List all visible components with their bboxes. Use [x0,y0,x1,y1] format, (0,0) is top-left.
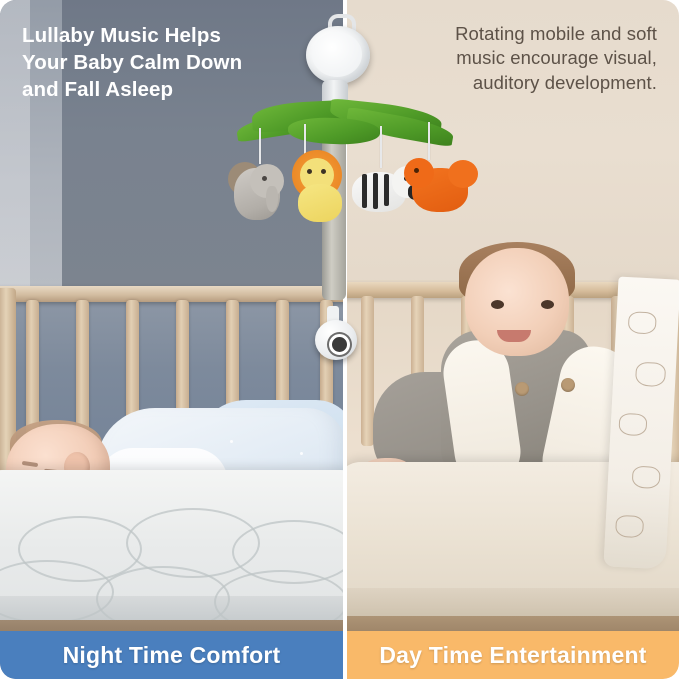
zebra-stripe [384,174,389,206]
banner-night-label: Night Time Comfort [63,642,281,669]
elephant-plush[interactable] [226,158,294,224]
lion-body [298,184,342,222]
lion-eye [307,169,312,174]
day-scene [345,0,679,679]
zebra-stripe [373,173,378,209]
toy-string [380,126,382,168]
toy-string [428,122,430,160]
overall-button [515,382,529,396]
elephant-trunk [266,186,278,212]
giraffe-eye [414,168,419,173]
giraffe-hindquarters [448,160,478,188]
headline-night-line-2: Your Baby Calm Down [22,49,322,76]
giraffe-head [404,158,434,188]
product-image: Lullaby Music Helps Your Baby Calm Down … [0,0,679,679]
crib-rail-night [0,286,345,302]
headline-night: Lullaby Music Helps Your Baby Calm Down … [22,22,322,103]
giraffe-plush[interactable] [404,156,482,220]
blanket-animal-sketch [615,515,644,538]
pajama-dot [230,440,233,443]
clamp-knob[interactable] [329,334,350,355]
headline-day: Rotating mobile and soft music encourage… [393,22,657,95]
blanket-animal-sketch [618,413,647,436]
headline-night-line-3: and Fall Asleep [22,76,322,103]
blanket-animal-sketch [632,466,661,489]
headline-night-line-1: Lullaby Music Helps [22,22,322,49]
banner-day-label: Day Time Entertainment [379,642,646,669]
headline-day-line-2: music encourage visual, [393,46,657,70]
lion-plush[interactable] [288,150,356,224]
mattress-day-edge [345,588,679,616]
headline-day-line-1: Rotating mobile and soft [393,22,657,46]
banner-day-time-entertainment: Day Time Entertainment [347,631,679,679]
lion-eye [321,169,326,174]
toddler-eye [541,300,554,309]
banner-night-time-comfort: Night Time Comfort [0,631,343,679]
headline-day-line-3: auditory development. [393,71,657,95]
elephant-eye [262,176,267,181]
zebra-stripe [362,174,367,208]
blanket-animal-sketch [628,311,657,334]
blanket-animal-sketch [635,362,666,388]
overall-button [561,378,575,392]
pajama-dot [300,452,303,455]
toddler-eye [491,300,504,309]
